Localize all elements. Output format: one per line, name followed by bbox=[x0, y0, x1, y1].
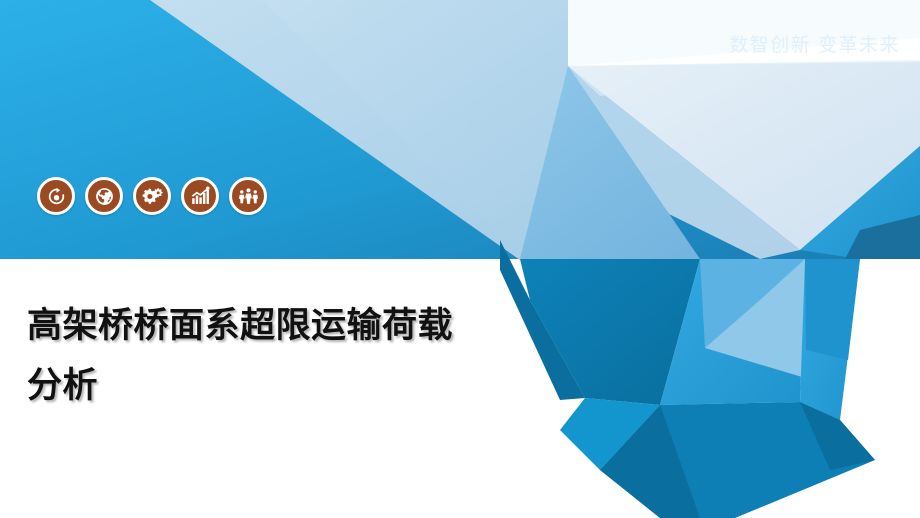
title-slide: 数智创新 变革未来 bbox=[0, 0, 920, 518]
header-tagline: 数智创新 变革未来 bbox=[729, 30, 900, 57]
background-artwork bbox=[0, 0, 920, 518]
people-group-icon bbox=[238, 186, 259, 207]
icon-strip bbox=[37, 177, 267, 215]
polygon-sky-column-top bbox=[805, 259, 860, 360]
globe-icon bbox=[94, 186, 115, 207]
gears-icon bbox=[142, 186, 163, 207]
page-title-line-1: 高架桥桥面系超限运输荷载 bbox=[27, 296, 547, 356]
icon-badge-bar-chart[interactable] bbox=[181, 177, 219, 215]
icon-badge-gears[interactable] bbox=[133, 177, 171, 215]
recycle-arrow-icon bbox=[46, 186, 67, 207]
page-title-line-2: 分析 bbox=[27, 356, 547, 416]
icon-badge-recycle[interactable] bbox=[37, 177, 75, 215]
icon-badge-people-group[interactable] bbox=[229, 177, 267, 215]
icon-badge-globe[interactable] bbox=[85, 177, 123, 215]
page-title: 高架桥桥面系超限运输荷载 分析 bbox=[27, 296, 547, 416]
bar-chart-icon bbox=[190, 186, 211, 207]
